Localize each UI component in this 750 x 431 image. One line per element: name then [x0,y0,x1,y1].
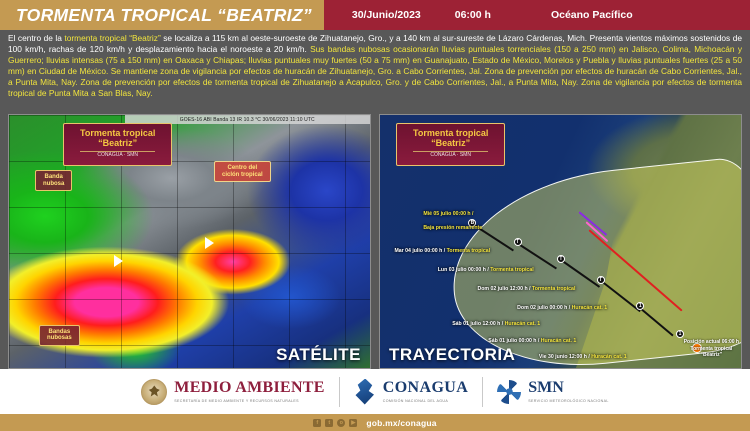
forecast-label: Dom 02 julio 00:00 h / Huracán cat. 1 [517,305,607,311]
bulletin-text: El centro de la tormenta tropical “Beatr… [0,30,750,114]
forecast-label: Sáb 01 julio 12:00 h / Huracán cat. 1 [452,321,540,327]
current-position-line1: Posición actual 06:00 h [684,339,739,345]
forecast-label: Sáb 01 julio 00:00 h / Huracán cat. 1 [488,338,576,344]
band-label-line1: Banda [43,174,64,181]
satellite-storm-name: “Beatriz” [80,138,155,148]
logo1-subtitle: SECRETARÍA DE MEDIO AMBIENTE Y RECURSOS … [174,399,324,404]
ocean-basin: Océano Pacífico [551,9,633,21]
current-position-line3: “Beatriz” [684,352,739,358]
satellite-center-callout: Centro del ciclón tropical [214,161,271,182]
footer-url[interactable]: gob.mx/conagua [366,418,436,428]
logo2-subtitle: COMISIÓN NACIONAL DEL AGUA [383,399,468,404]
twitter-icon[interactable]: t [325,419,333,427]
logo-smn: SMN SERVICIO METEOROLÓGICO NACIONAL [483,380,622,404]
satellite-storm-agency: CONAGUA · SMN [80,151,155,159]
logo-conagua: CONAGUA COMISIÓN NACIONAL DEL AGUA [340,379,482,405]
satellite-panel[interactable]: GOES-16 ABI Banda 13 IR 10.3 °C 30/06/20… [8,114,371,369]
bands-label-line1: Bandas [47,329,72,336]
footer-bar: f t o ▶ gob.mx/conagua [0,414,750,431]
satellite-storm-callout: Tormenta tropical “Beatriz” CONAGUA · SM… [63,123,172,166]
trajectory-storm-type: Tormenta tropical [413,128,488,138]
panels-row: GOES-16 ABI Banda 13 IR 10.3 °C 30/06/20… [0,114,750,369]
forecast-label-status: Baja presión remanente [423,225,482,231]
forecast-label: Dom 02 julio 12:00 h / Tormenta tropical [477,286,575,292]
satellite-band-callout: Banda nubosa [35,170,72,191]
facebook-icon[interactable]: f [313,419,321,427]
logo1-title: MEDIO AMBIENTE [174,380,324,396]
bulletin-seg-1: El centro de la [8,33,64,43]
satellite-arrow-left [114,255,123,267]
forecast-label: Mié 05 julio 00:00 h / [423,211,473,217]
trajectory-panel-label: TRAYECTORIA [389,345,515,365]
forecast-label: Vie 30 junio 12:00 h / Huracán cat. 1 [539,354,627,360]
trajectory-storm-callout: Tormenta tropical “Beatriz” CONAGUA · SM… [396,123,505,166]
bulletin-page: TORMENTA TROPICAL “BEATRIZ” 30/Junio/202… [0,0,750,431]
spiral-icon [497,380,521,404]
instagram-icon[interactable]: o [337,419,345,427]
forecast-label: Mar 04 julio 00:00 h / Tormenta tropical [394,248,490,254]
header-title-container: TORMENTA TROPICAL “BEATRIZ” [0,0,324,30]
header: TORMENTA TROPICAL “BEATRIZ” 30/Junio/202… [0,0,750,30]
eagle-seal-icon [141,379,167,405]
center-label-line1: Centro del [222,165,263,172]
current-position-line2: Tormenta tropical [684,346,739,352]
bulletin-seg-2: tormenta tropical “Beatriz” [64,33,160,43]
trajectory-panel[interactable]: B T T T 1 1 Mié 05 julio 00:00 h / Baja … [379,114,742,369]
youtube-icon[interactable]: ▶ [349,419,357,427]
forecast-label: Lun 03 julio 00:00 h / Tormenta tropical [438,267,534,273]
trajectory-storm-name: “Beatriz” [413,138,488,148]
header-meta: 30/Junio/2023 06:00 h Océano Pacífico [324,0,750,30]
forecast-marker[interactable]: T [514,238,522,246]
bulletin-date: 30/Junio/2023 [352,9,421,21]
logo-medio-ambiente: MEDIO AMBIENTE SECRETARÍA DE MEDIO AMBIE… [127,379,338,405]
logo2-title: CONAGUA [383,380,468,396]
current-position-label: Posición actual 06:00 h Tormenta tropica… [684,339,739,358]
forecast-marker[interactable]: T [597,276,605,284]
logo3-title: SMN [528,380,608,396]
trajectory-storm-agency: CONAGUA · SMN [413,151,488,159]
satellite-storm-type: Tormenta tropical [80,128,155,138]
satellite-bands-callout: Bandas nubosas [39,325,80,346]
band-label-line2: nubosa [43,181,64,188]
bands-label-line2: nubosas [47,335,72,342]
page-title: TORMENTA TROPICAL “BEATRIZ” [16,5,312,26]
footer-logos: MEDIO AMBIENTE SECRETARÍA DE MEDIO AMBIE… [0,369,750,414]
satellite-arrow-right [205,237,214,249]
logo3-subtitle: SERVICIO METEOROLÓGICO NACIONAL [528,399,608,404]
forecast-marker[interactable]: 1 [676,330,684,338]
bulletin-time: 06:00 h [455,9,491,21]
satellite-panel-label: SATÉLITE [276,345,361,365]
center-label-line2: ciclón tropical [222,172,263,179]
water-drop-icon [354,379,376,405]
